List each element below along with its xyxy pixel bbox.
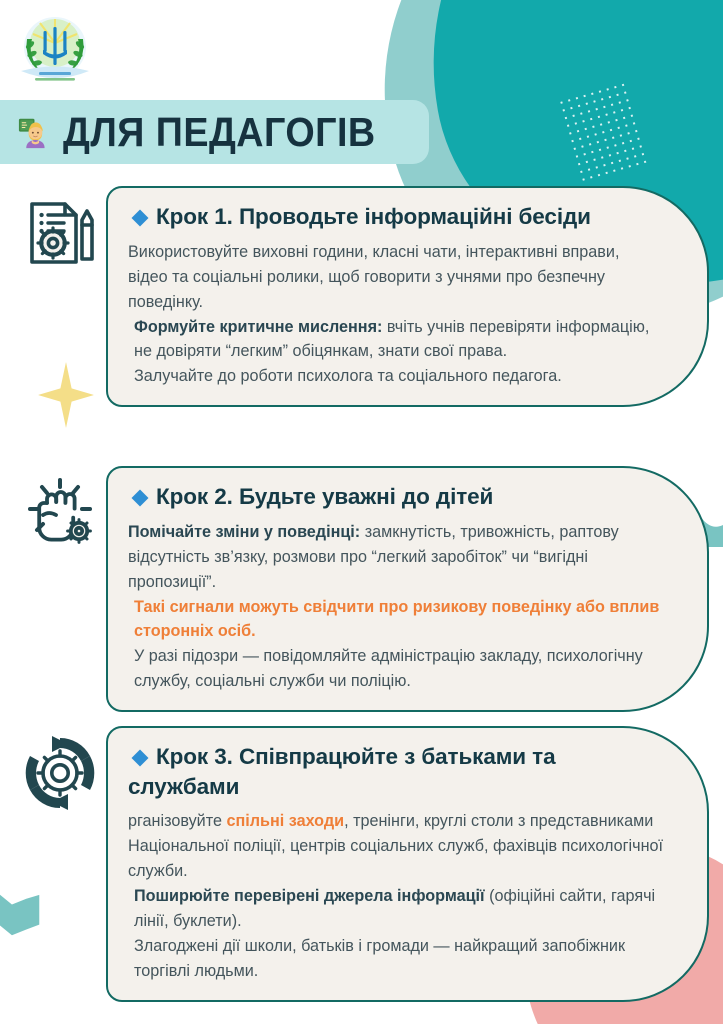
infographic-page: ДЛЯ ПЕДАГОГІВ — [0, 0, 723, 1024]
text-run-normal: Злагоджені дії школи, батьків і громади … — [134, 937, 625, 980]
step-card-3-title: Крок 3. Співпрацюйте з батьками та служб… — [128, 742, 663, 801]
diamond-bullet-icon — [132, 209, 149, 226]
diamond-bullet-icon — [132, 489, 149, 506]
document-checklist-gear-pencil-icon — [14, 186, 106, 272]
step-card-2-title-text: Крок 2. Будьте уважні до дітей — [156, 484, 493, 509]
text-run-normal: У разі підозри — повідомляйте адміністра… — [134, 647, 643, 690]
step-card-2-body: Помічайте зміни у поведінці: замкнутість… — [128, 520, 663, 695]
body-paragraph: У разі підозри — повідомляйте адміністра… — [128, 644, 663, 694]
raised-fist-gear-icon — [14, 466, 106, 552]
step-card-1-title: Крок 1. Проводьте інформаційні бесіди — [128, 202, 663, 232]
body-paragraph: Формуйте критичне мислення: вчіть учнів … — [128, 315, 663, 365]
page-title: ДЛЯ ПЕДАГОГІВ — [63, 109, 376, 156]
step-card-1-title-text: Крок 1. Проводьте інформаційні бесіди — [156, 204, 591, 229]
step-card-3-title-text: Крок 3. Співпрацюйте з батьками та служб… — [128, 744, 556, 799]
organisation-logo-icon — [13, 9, 97, 91]
body-paragraph: Залучайте до роботи психолога та соціаль… — [128, 364, 663, 389]
text-run-bold: Помічайте зміни у поведінці: — [128, 523, 360, 541]
text-run-normal: Використовуйте виховні години, класні ча… — [128, 243, 619, 311]
step-card-3-body: рганізовуйте спільні заходи, тренінги, к… — [128, 809, 663, 984]
body-paragraph: рганізовуйте спільні заходи, тренінги, к… — [128, 809, 663, 884]
body-paragraph: Злагоджені дії школи, батьків і громади … — [128, 934, 663, 984]
text-run-accent: Такі сигнали можуть свідчити про ризиков… — [134, 598, 659, 641]
step-card-2-title: Крок 2. Будьте уважні до дітей — [128, 482, 663, 512]
step-card-1-panel: Крок 1. Проводьте інформаційні бесіди Ви… — [106, 186, 709, 407]
text-run-bold: Формуйте критичне мислення: — [134, 318, 382, 336]
diamond-bullet-icon — [132, 749, 149, 766]
step-card-1: Крок 1. Проводьте інформаційні бесіди Ви… — [14, 186, 709, 407]
step-card-1-body: Використовуйте виховні години, класні ча… — [128, 240, 663, 390]
body-paragraph: Поширюйте перевірені джерела інформації … — [128, 884, 663, 934]
step-card-2-panel: Крок 2. Будьте уважні до дітей Помічайте… — [106, 466, 709, 712]
text-run-normal: рганізовуйте — [128, 812, 226, 830]
text-run-normal: Залучайте до роботи психолога та соціаль… — [134, 367, 562, 385]
page-title-banner: ДЛЯ ПЕДАГОГІВ — [0, 100, 429, 164]
body-paragraph: Використовуйте виховні години, класні ча… — [128, 240, 663, 315]
step-card-2: Крок 2. Будьте уважні до дітей Помічайте… — [14, 466, 709, 712]
body-paragraph: Такі сигнали можуть свідчити про ризиков… — [128, 595, 663, 645]
dotted-pattern-decoration — [557, 79, 652, 182]
text-run-bold: Поширюйте перевірені джерела інформації — [134, 887, 485, 905]
woman-teacher-emoji — [18, 116, 51, 149]
body-paragraph: Помічайте зміни у поведінці: замкнутість… — [128, 520, 663, 595]
step-card-3: Крок 3. Співпрацюйте з батьками та служб… — [14, 726, 709, 1002]
cycle-arrows-gear-icon — [14, 726, 106, 812]
text-run-accent: спільні заходи — [226, 812, 344, 830]
step-card-3-panel: Крок 3. Співпрацюйте з батьками та служб… — [106, 726, 709, 1002]
